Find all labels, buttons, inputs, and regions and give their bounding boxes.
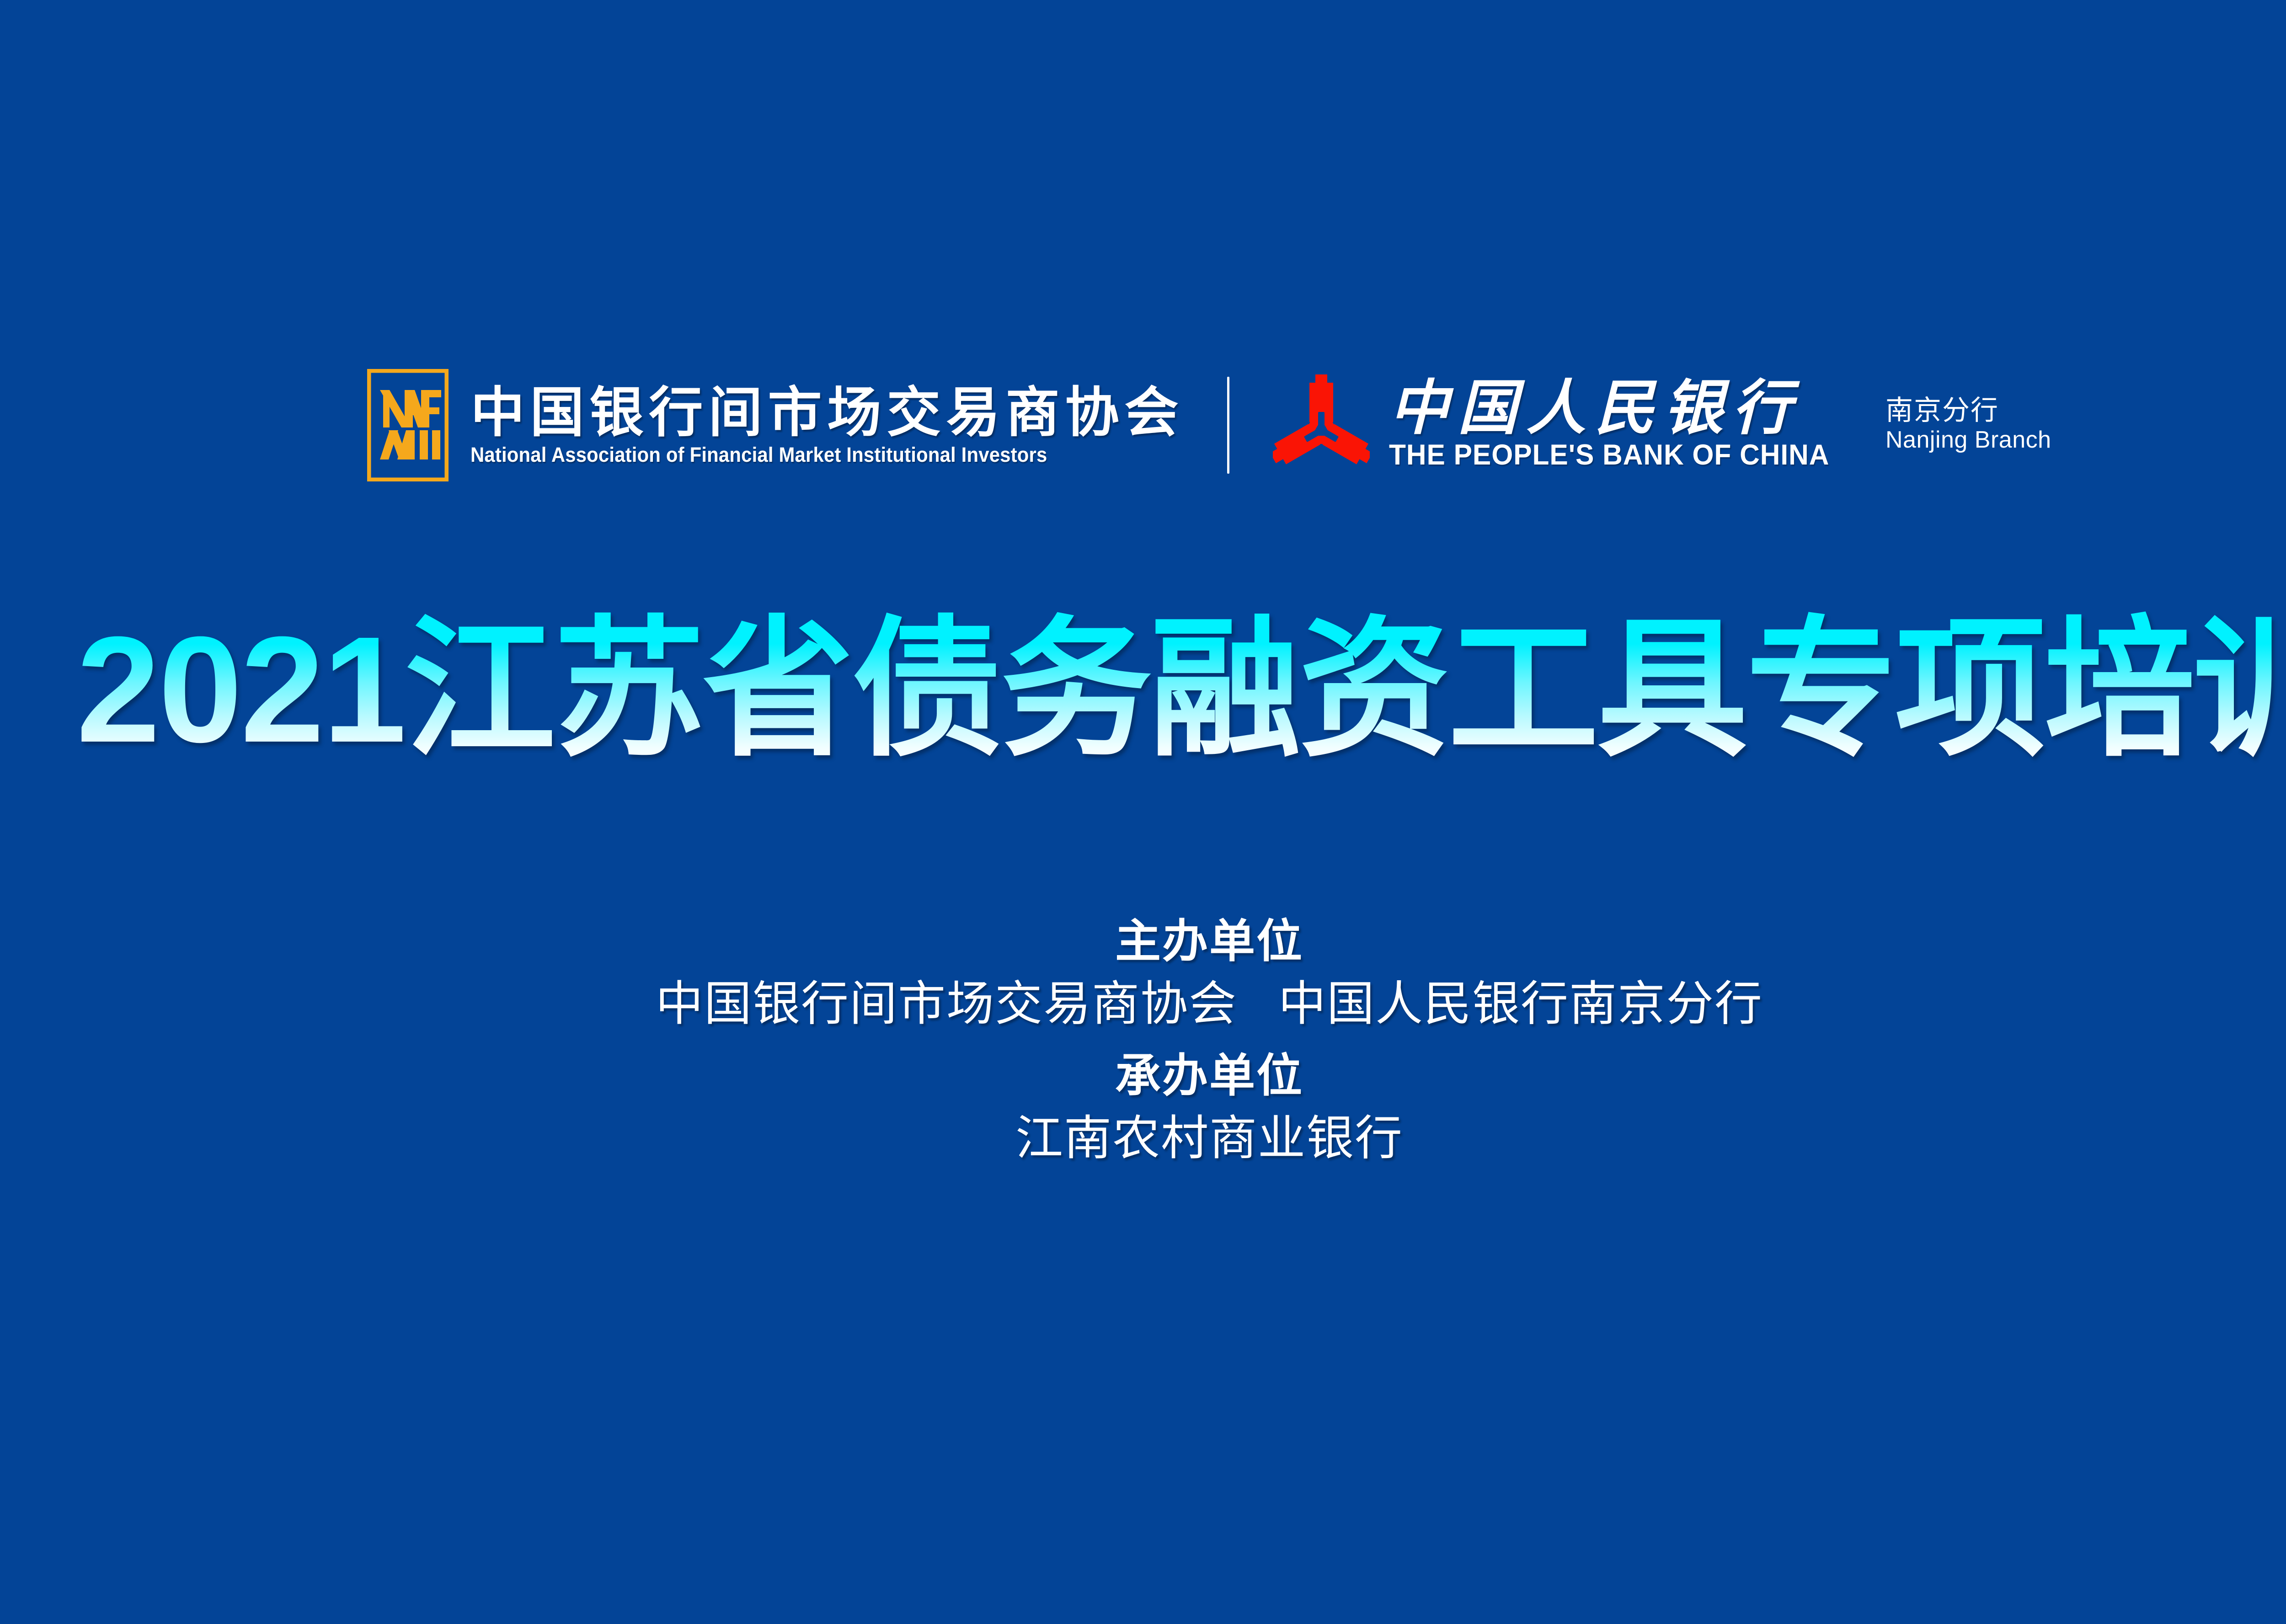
logo-divider (1227, 377, 1229, 474)
host-name-1: 中国银行间市场交易商协会 (656, 978, 1237, 1031)
pboc-logo-icon (1273, 368, 1370, 482)
organizer-label: 承办单位 (0, 1047, 2286, 1105)
logo-bar: 中国银行间市场交易商协会 National Association of Fin… (0, 352, 2286, 498)
pboc-branch-block: 南京分行 Nanjing Branch (1885, 396, 2051, 454)
nafmii-wordmark: 中国银行间市场交易商协会 National Association of Fin… (470, 385, 1184, 466)
page-title: 2021江苏省债务融资工具专项培训 (0, 608, 2286, 771)
organizer-name-1: 江南农村商业银行 (0, 1105, 2286, 1173)
host-label: 主办单位 (0, 912, 2286, 971)
host-name-2: 中国人民银行南京分行 (1278, 978, 1763, 1031)
training-banner-slide: 中国银行间市场交易商协会 National Association of Fin… (0, 0, 2286, 1624)
pboc-name-en: THE PEOPLE'S BANK OF CHINA (1389, 439, 1829, 471)
nafmii-name-cn: 中国银行间市场交易商协会 (470, 385, 1184, 442)
host-names-row: 中国银行间市场交易商协会中国人民银行南京分行 (0, 971, 2286, 1038)
nafmii-name-en: National Association of Financial Market… (470, 443, 1134, 466)
pboc-branch-en: Nanjing Branch (1885, 427, 2051, 453)
nafmii-logo-lockup: 中国银行间市场交易商协会 National Association of Fin… (367, 369, 1184, 481)
pboc-name-cn: 中国人民银行 (1389, 379, 1848, 438)
nafmii-logo-icon (367, 369, 449, 481)
pboc-wordmark: 中国人民银行 THE PEOPLE'S BANK OF CHINA (1389, 379, 1848, 471)
organizers-section: 主办单位 中国银行间市场交易商协会中国人民银行南京分行 承办单位 江南农村商业银… (0, 912, 2286, 1172)
pboc-branch-cn: 南京分行 (1885, 396, 2051, 425)
pboc-logo-lockup: 中国人民银行 THE PEOPLE'S BANK OF CHINA 南京分行 N… (1273, 368, 2051, 482)
